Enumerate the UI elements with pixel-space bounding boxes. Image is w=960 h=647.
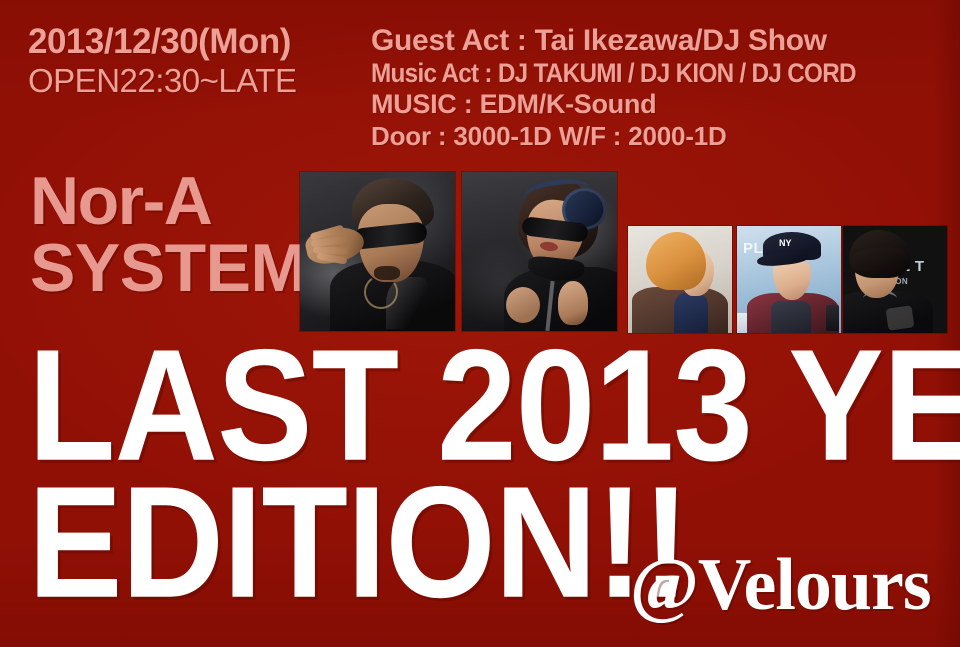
event-open-time: OPEN22:30~LATE	[28, 64, 296, 97]
event-date-block: 2013/12/30(Mon) OPEN22:30~LATE	[28, 24, 296, 97]
lineup-block: Guest Act : Tai Ikezawa/DJ Show Music Ac…	[371, 26, 910, 149]
photo-figure-hair	[646, 232, 706, 290]
event-flyer: 2013/12/30(Mon) OPEN22:30~LATE Nor-A SYS…	[0, 0, 960, 647]
photo-guest-act-female-dj	[462, 172, 617, 331]
photo-figure-cap-logo: NY	[779, 238, 791, 248]
photo-guest-1-content	[300, 172, 455, 331]
headline-line-2-text: EDITION!!	[28, 470, 689, 616]
photo-guest-act-male-dancer	[300, 172, 455, 331]
brand-line-2: SYSTEM	[30, 235, 307, 302]
guest-act-line: Guest Act : Tai Ikezawa/DJ Show	[371, 26, 910, 56]
event-date: 2013/12/30(Mon)	[28, 24, 296, 59]
music-act-text: Music Act : DJ TAKUMI / DJ KION / DJ COR…	[371, 60, 856, 87]
photo-guest-2-content	[462, 172, 617, 331]
music-genre-line: MUSIC : EDM/K-Sound	[371, 91, 910, 118]
brand-line-1: Nor-A	[30, 168, 307, 235]
brand-lockup: Nor-A SYSTEM	[30, 168, 307, 301]
venue-name: @Velours	[630, 548, 931, 622]
music-act-line: Music Act : DJ TAKUMI / DJ KION / DJ COR…	[371, 60, 910, 87]
pricing-line: Door : 3000-1D W/F : 2000-1D	[371, 123, 910, 149]
